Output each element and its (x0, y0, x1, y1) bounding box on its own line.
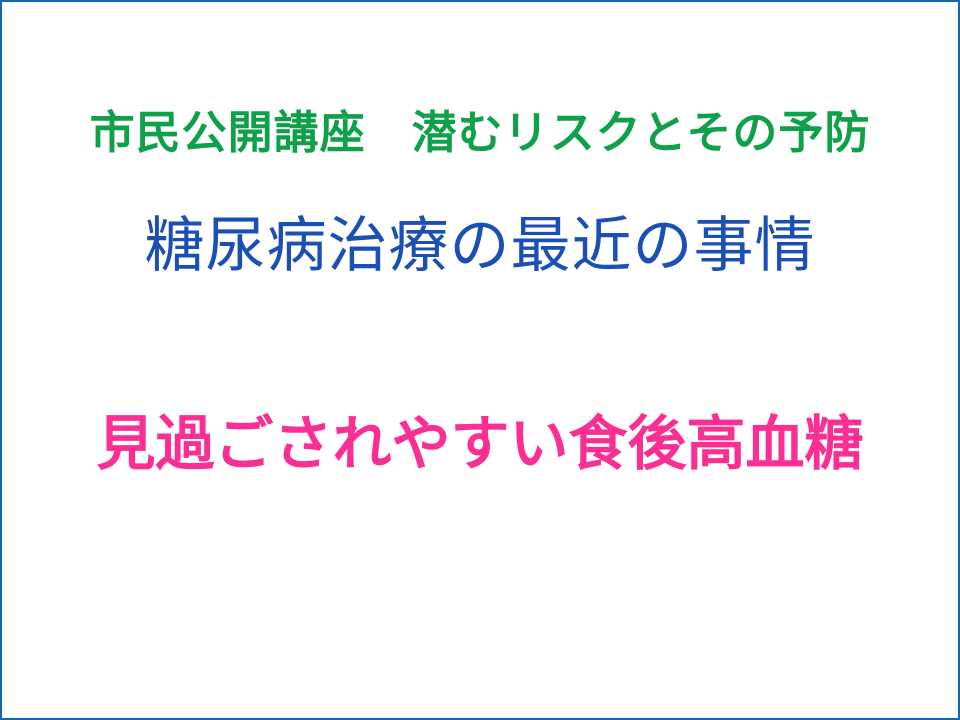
slide-title: 糖尿病治療の最近の事情 (2, 216, 958, 276)
presentation-slide: 市民公開講座 潜むリスクとその予防 糖尿病治療の最近の事情 見過ごされやすい食後… (0, 0, 960, 720)
slide-subtitle: 市民公開講座 潜むリスクとその予防 (2, 110, 958, 155)
slide-highlight-text: 見過ごされやすい食後高血糖 (2, 414, 958, 473)
